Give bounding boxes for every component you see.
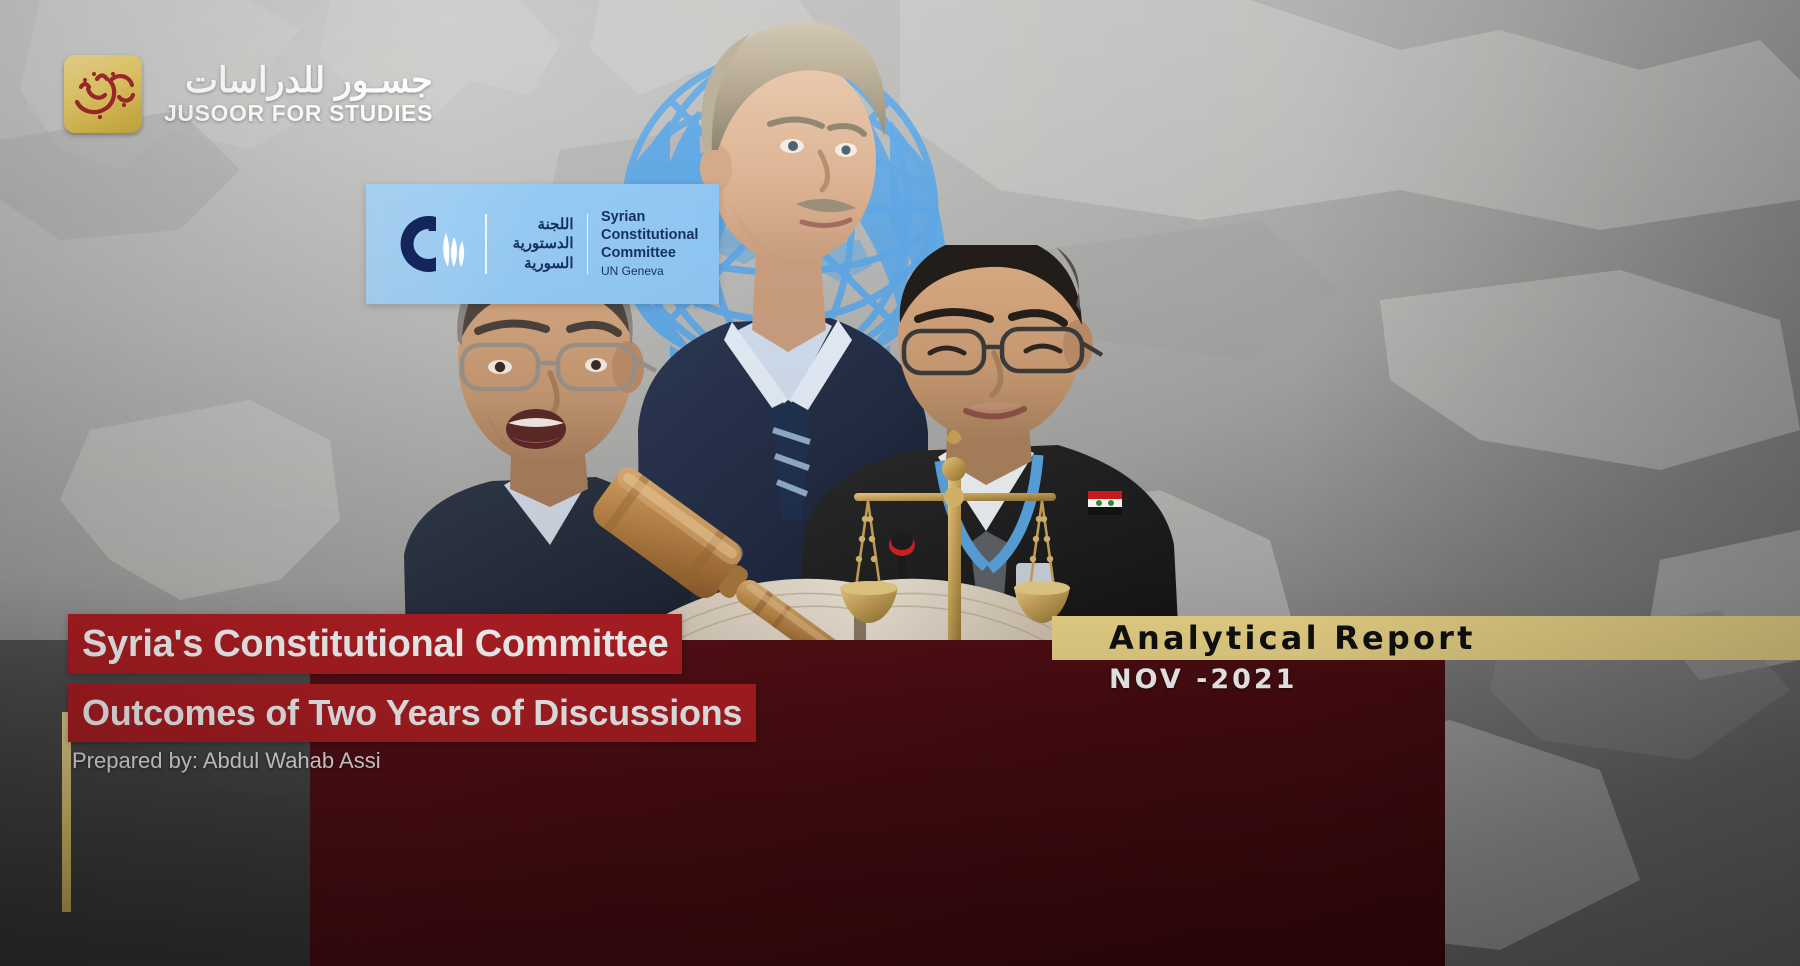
logo-divider-2 — [587, 214, 589, 274]
jusoor-calligraphy-icon — [64, 55, 142, 133]
prepared-by-text: Prepared by: Abdul Wahab Assi — [72, 748, 381, 774]
title-line-1: Syria's Constitutional Committee — [68, 614, 682, 674]
logo-divider-1 — [485, 214, 487, 274]
title-accent-bar — [62, 712, 71, 912]
report-type-banner: Analytical Report — [1052, 616, 1800, 660]
report-date-text: NOV -2021 — [1109, 664, 1297, 695]
committee-en-line2: Constitutional — [601, 227, 698, 245]
committee-en-line4: UN Geneva — [601, 264, 698, 279]
title-line-2: Outcomes of Two Years of Discussions — [68, 684, 756, 742]
title-line-2-text: Outcomes of Two Years of Discussions — [82, 692, 742, 734]
report-type-text: Analytical Report — [1109, 619, 1476, 657]
report-cover: جسـور للدراسات JUSOOR FOR STUDIES اللجنة… — [0, 0, 1800, 966]
title-line-1-text: Syria's Constitutional Committee — [82, 623, 668, 666]
committee-en-line3: Committee — [601, 245, 698, 263]
brand-name-english: JUSOOR FOR STUDIES — [164, 102, 433, 125]
committee-en-line1: Syrian — [601, 209, 698, 227]
constitutional-committee-c-leaf-icon — [380, 205, 472, 283]
brand-name-arabic: جسـور للدراسات — [164, 63, 433, 98]
committee-name-arabic: اللجنة الدستورية السورية — [500, 215, 574, 273]
syrian-constitutional-committee-logo[interactable]: اللجنة الدستورية السورية Syrian Constitu… — [366, 184, 719, 304]
committee-name-english: Syrian Constitutional Committee UN Genev… — [601, 209, 698, 279]
jusoor-logo[interactable]: جسـور للدراسات JUSOOR FOR STUDIES — [64, 55, 433, 133]
